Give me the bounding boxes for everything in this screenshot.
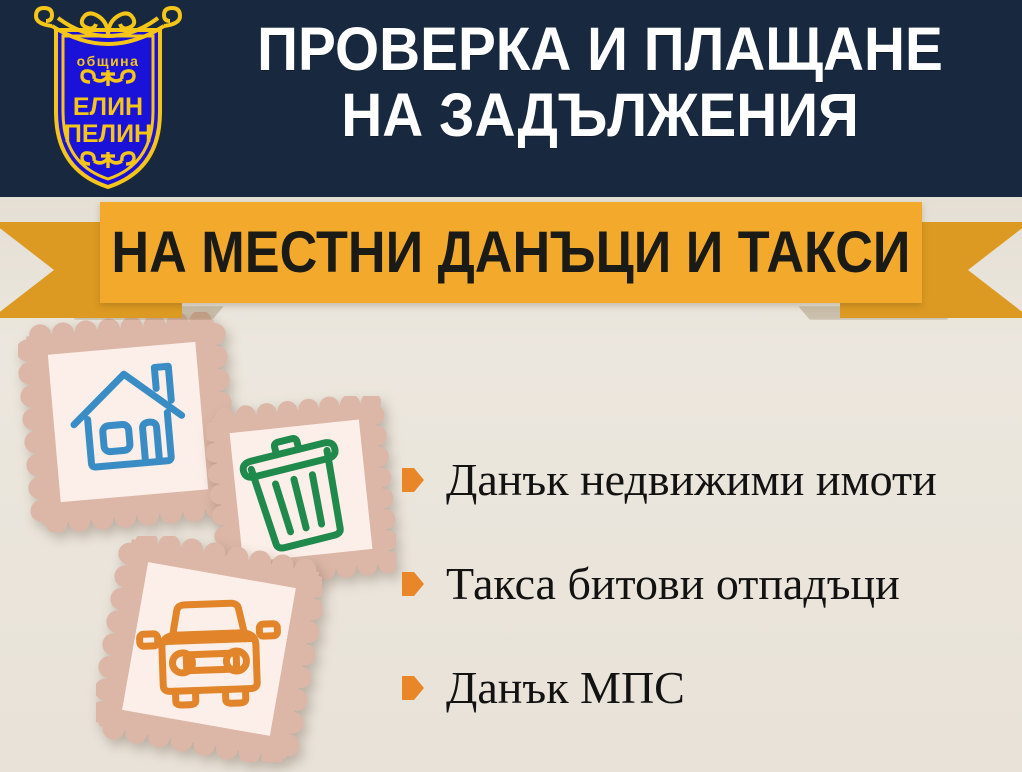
poster-canvas: община ЕЛИН ПЕЛИН [0,0,1022,772]
stamp-car [96,536,322,762]
crest-name-line1: ЕЛИН [73,93,143,121]
list-item-label: Такса битови отпадъци [446,559,900,609]
arrow-bullet-icon [402,572,424,596]
list-item[interactable]: Данък недвижими имоти [402,428,1012,532]
crest-municipality-word: община [77,53,140,69]
ribbon-label: НА МЕСТНИ ДАНЪЦИ И ТАКСИ [111,224,910,282]
arrow-bullet-icon [402,468,424,492]
subtitle-ribbon: НА МЕСТНИ ДАНЪЦИ И ТАКСИ [0,196,1022,318]
title-line-1: ПРОВЕРКА И ПЛАЩАНЕ [219,16,982,82]
arrow-bullet-icon [402,676,424,700]
title-line-2: НА ЗАДЪЛЖЕНИЯ [219,82,982,148]
stamp-house [18,312,238,532]
crest-name-line2: ПЕЛИН [64,120,152,148]
list-item[interactable]: Данък МПС [402,636,1012,740]
poster-title: ПРОВЕРКА И ПЛАЩАНЕ НА ЗАДЪЛЖЕНИЯ [190,16,1010,148]
tax-type-list: Данък недвижими имоти Такса битови отпад… [402,428,1012,740]
list-item-label: Данък МПС [446,663,685,713]
ribbon-banner: НА МЕСТНИ ДАНЪЦИ И ТАКСИ [100,202,922,303]
coat-of-arms-icon: община ЕЛИН ПЕЛИН [28,2,188,192]
list-item[interactable]: Такса битови отпадъци [402,532,1012,636]
poster-header: община ЕЛИН ПЕЛИН [0,0,1022,197]
list-item-label: Данък недвижими имоти [446,455,937,505]
